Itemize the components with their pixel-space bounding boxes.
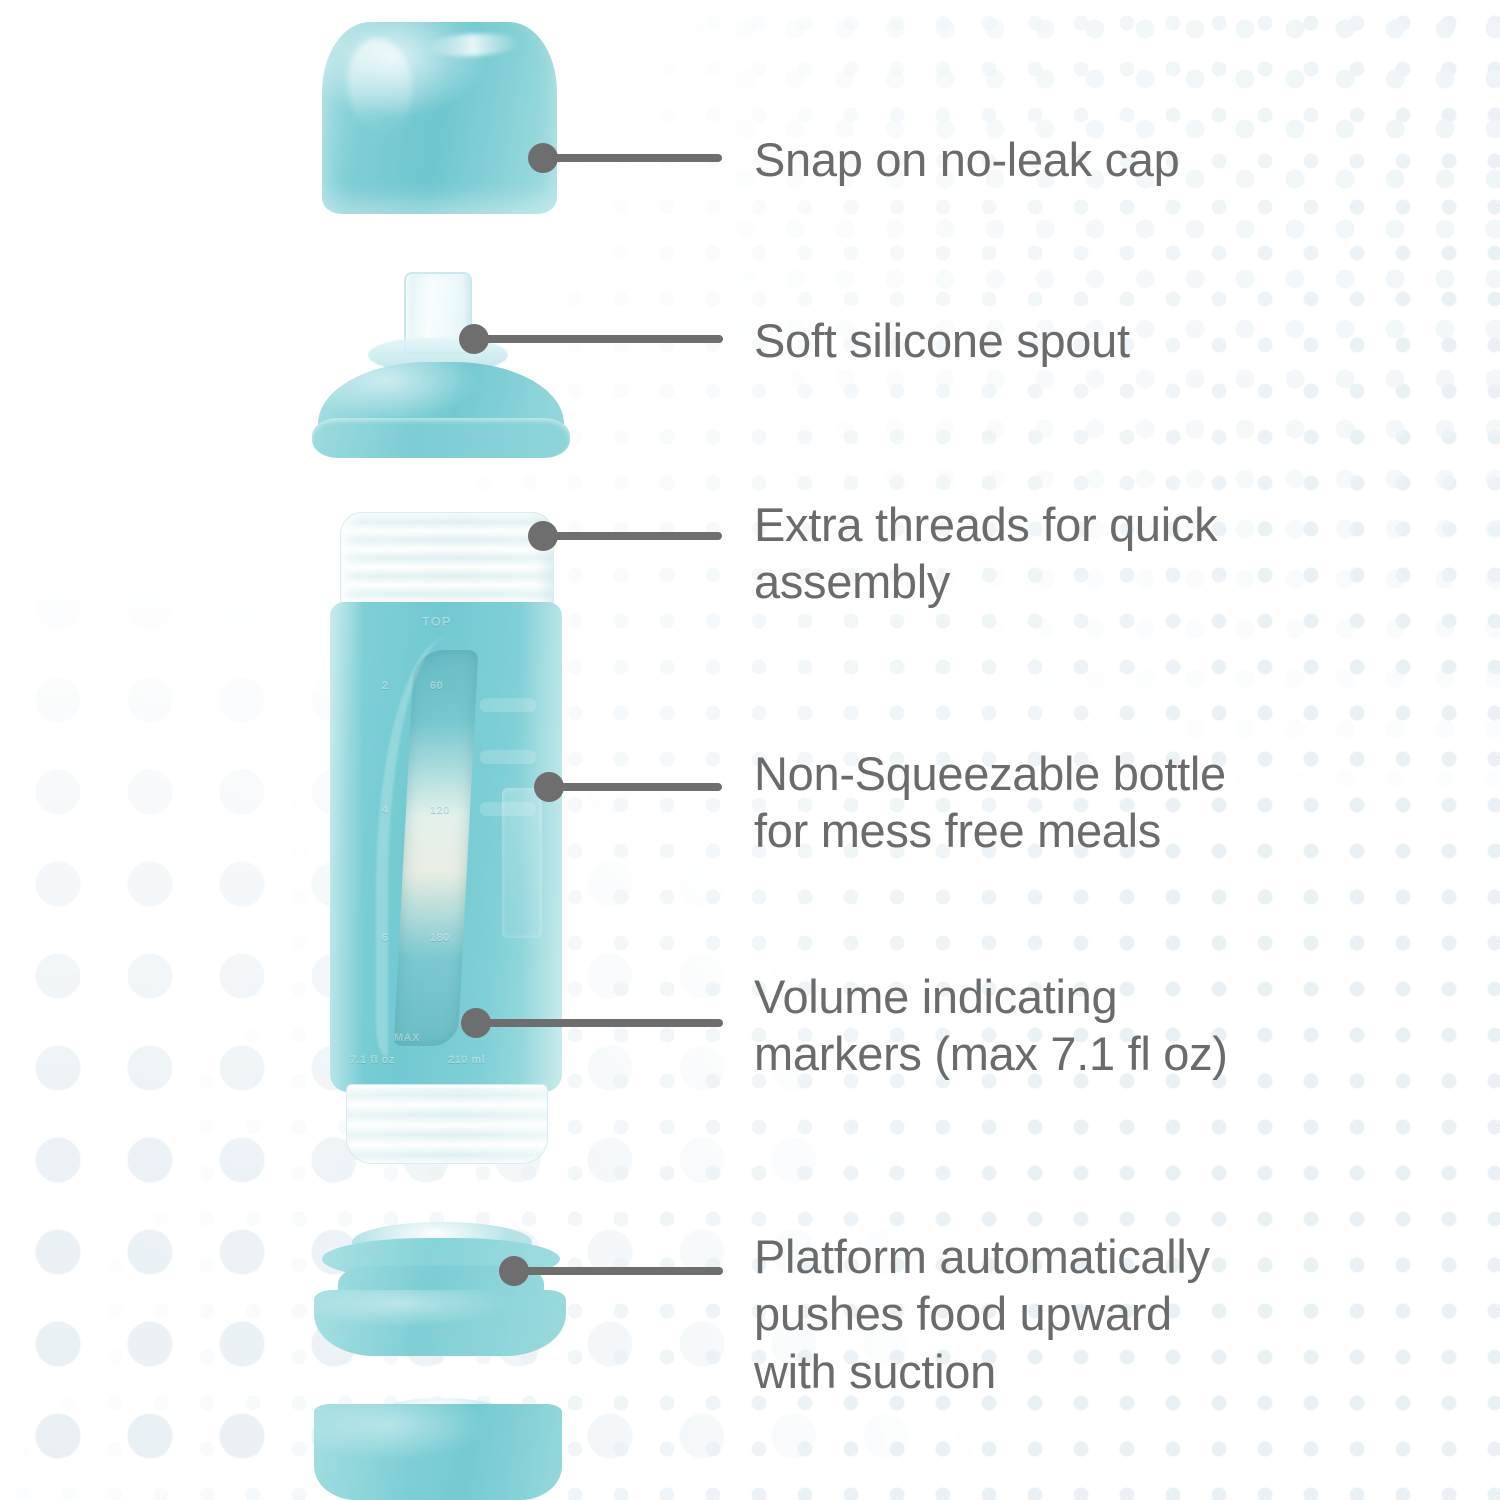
background-dot-pattern-fine	[0, 0, 1500, 1500]
bottom-cup-body	[314, 1404, 562, 1500]
leader-line-spout	[483, 335, 723, 343]
sleeve-rib	[480, 750, 536, 764]
max-volume-ml: 210 ml	[448, 1054, 485, 1066]
bottle-bottom-threads	[346, 1084, 548, 1164]
cap-dome	[322, 22, 557, 214]
max-volume-oz: 7.1 fl oz	[350, 1054, 395, 1066]
graduation-ml-60: 60	[430, 680, 443, 692]
part-snap-on-cap	[322, 22, 557, 214]
callout-label-bottle: Non-Squeezable bottle for mess free meal…	[754, 745, 1226, 860]
graduation-ml-180: 180	[430, 932, 450, 944]
callout-label-threads: Extra threads for quick assembly	[754, 496, 1217, 611]
platform-suction-skirt	[314, 1290, 566, 1356]
graduation-oz-2: 2	[382, 680, 389, 692]
leader-line-bottle	[558, 783, 722, 791]
callout-label-cap: Snap on no-leak cap	[754, 131, 1179, 188]
sleeve-left-highlight	[330, 602, 364, 1092]
callout-label-platform: Platform automatically pushes food upwar…	[754, 1228, 1210, 1400]
leader-line-threads	[552, 532, 722, 540]
infographic-canvas: TOP 2 60 4 120 6 180 MAX 7.1 fl oz 210 m…	[0, 0, 1500, 1500]
leader-line-markers	[485, 1019, 723, 1027]
graduation-oz-4: 4	[382, 804, 389, 816]
leader-line-cap	[552, 154, 722, 162]
cap-highlight-left	[343, 35, 417, 137]
callout-label-spout: Soft silicone spout	[754, 312, 1130, 369]
background-dot-pattern-topright	[0, 0, 1500, 1500]
callout-label-markers: Volume indicating markers (max 7.1 fl oz…	[754, 968, 1228, 1083]
sleeve-top-label: TOP	[422, 614, 452, 629]
max-label: MAX	[394, 1032, 420, 1044]
sleeve-embossed-logo	[502, 788, 542, 938]
graduation-oz-6: 6	[382, 932, 389, 944]
leader-line-platform	[523, 1267, 723, 1275]
sleeve-rib	[480, 698, 536, 712]
background-dot-pattern-coarse	[0, 0, 1500, 1500]
cap-highlight-top	[426, 32, 519, 59]
graduation-ml-120: 120	[430, 804, 450, 816]
spout-lid-collar	[312, 418, 570, 458]
